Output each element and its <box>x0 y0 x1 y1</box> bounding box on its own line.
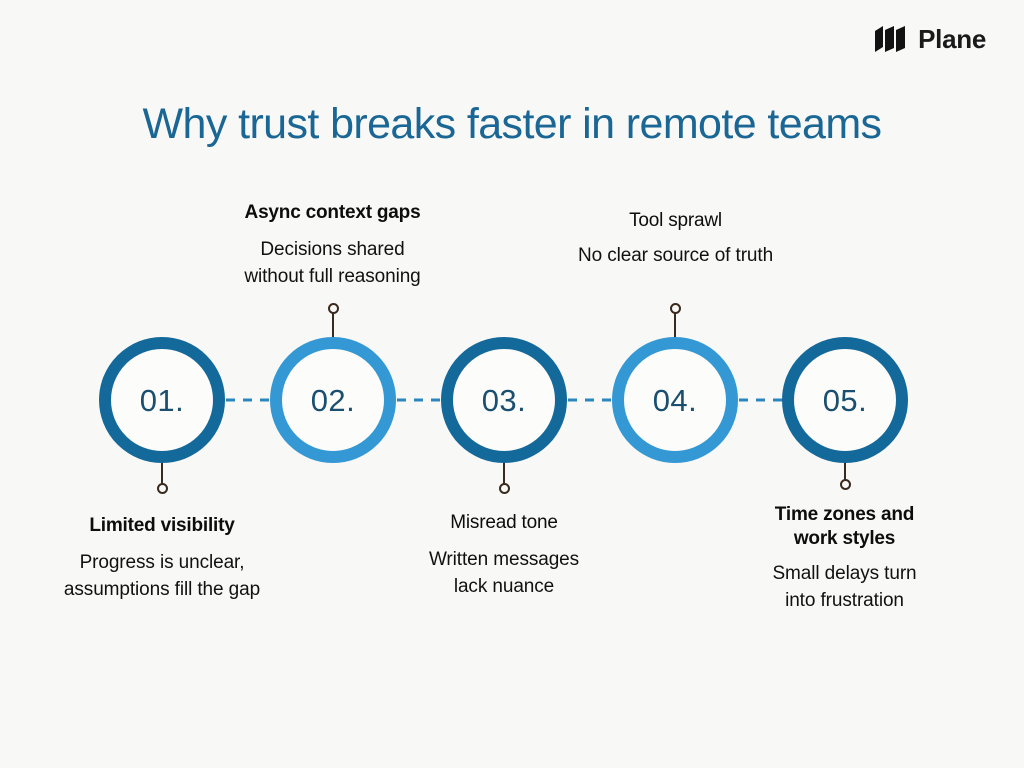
caption-title-line-1: Time zones and <box>722 503 967 527</box>
caption-04: Tool sprawl No clear source of truth <box>548 209 803 269</box>
caption-03: Misread tone Written messages lack nuanc… <box>379 511 629 601</box>
caption-desc-03: Written messages lack nuance <box>379 546 629 601</box>
timeline-node-02[interactable]: 02. <box>270 337 396 463</box>
node-number-02: 02. <box>311 385 356 416</box>
caption-title-01: Limited visibility <box>37 514 287 538</box>
caption-title-04: Tool sprawl <box>548 209 803 233</box>
stem-dot-04 <box>670 303 681 314</box>
stem-dot-01 <box>157 483 168 494</box>
caption-desc-line-1: No clear source of truth <box>548 242 803 270</box>
caption-title-02: Async context gaps <box>205 201 460 225</box>
caption-title-03: Misread tone <box>379 511 629 535</box>
caption-desc-05: Small delays turn into frustration <box>722 560 967 615</box>
caption-02: Async context gaps Decisions shared with… <box>205 201 460 291</box>
caption-desc-01: Progress is unclear, assumptions fill th… <box>37 549 287 604</box>
stem-dot-02 <box>328 303 339 314</box>
stem-02 <box>332 313 334 339</box>
caption-desc-line-2: assumptions fill the gap <box>37 576 287 604</box>
caption-title-05: Time zones and work styles <box>722 503 967 551</box>
infographic-page: Plane Why trust breaks faster in remote … <box>0 0 1024 768</box>
caption-desc-line-2: into frustration <box>722 587 967 615</box>
caption-desc-line-2: lack nuance <box>379 573 629 601</box>
caption-desc-line-2: without full reasoning <box>205 263 460 291</box>
node-number-03: 03. <box>482 385 527 416</box>
stem-04 <box>674 313 676 339</box>
timeline: 01. Limited visibility Progress is uncle… <box>0 0 1024 768</box>
caption-desc-line-1: Progress is unclear, <box>37 549 287 577</box>
caption-desc-line-1: Decisions shared <box>205 236 460 264</box>
caption-title-line-2: work styles <box>722 527 967 551</box>
timeline-node-04[interactable]: 04. <box>612 337 738 463</box>
timeline-node-05[interactable]: 05. <box>782 337 908 463</box>
stem-dot-05 <box>840 479 851 490</box>
node-number-04: 04. <box>653 385 698 416</box>
caption-desc-02: Decisions shared without full reasoning <box>205 236 460 291</box>
node-number-01: 01. <box>140 385 185 416</box>
caption-desc-line-1: Written messages <box>379 546 629 574</box>
node-number-05: 05. <box>823 385 868 416</box>
caption-desc-04: No clear source of truth <box>548 242 803 270</box>
caption-05: Time zones and work styles Small delays … <box>722 503 967 615</box>
timeline-node-01[interactable]: 01. <box>99 337 225 463</box>
caption-desc-line-1: Small delays turn <box>722 560 967 588</box>
stem-dot-03 <box>499 483 510 494</box>
timeline-node-03[interactable]: 03. <box>441 337 567 463</box>
caption-01: Limited visibility Progress is unclear, … <box>37 514 287 604</box>
